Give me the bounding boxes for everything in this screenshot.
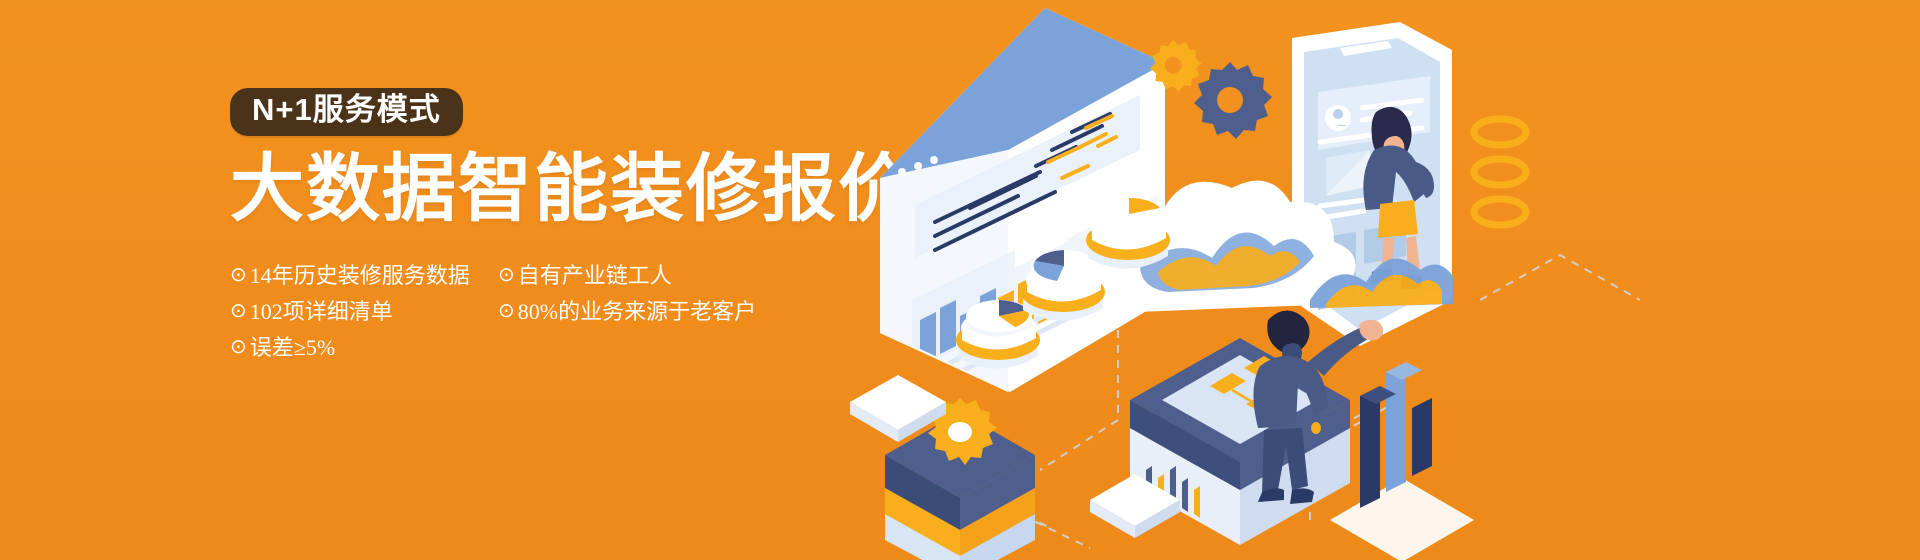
service-mode-badge: N+1服务模式 [230, 88, 463, 136]
list-item: ⊙ 误差≥5% [230, 330, 488, 366]
list-item-label: 102项详细清单 [250, 294, 393, 330]
bar-chart-group [1330, 362, 1474, 560]
list-item: ⊙ 80%的业务来源于老客户 [498, 294, 798, 330]
list-item-label: 80%的业务来源于老客户 [518, 294, 756, 330]
ring-stack-icon [1474, 119, 1526, 225]
list-item-label: 14年历史装修服务数据 [250, 258, 470, 294]
list-item-label: 误差≥5% [250, 330, 335, 366]
list-item-label: 自有产业链工人 [518, 258, 672, 294]
list-item: ⊙ 102项详细清单 [230, 294, 488, 330]
bullet-marker-icon: ⊙ [230, 337, 247, 357]
bullet-marker-icon: ⊙ [498, 265, 515, 285]
gear-large-icon [1194, 62, 1272, 139]
bullet-marker-icon: ⊙ [498, 301, 515, 321]
list-item: ⊙ 14年历史装修服务数据 [230, 258, 488, 294]
list-item: ⊙ 自有产业链工人 [498, 258, 798, 294]
isometric-big-data-illustration [840, 0, 1920, 560]
promo-banner: N+1服务模式 大数据智能装修报价 ⊙ 14年历史装修服务数据 ⊙ 102项详细… [0, 0, 1920, 560]
bullet-marker-icon: ⊙ [230, 301, 247, 321]
bullet-marker-icon: ⊙ [230, 265, 247, 285]
